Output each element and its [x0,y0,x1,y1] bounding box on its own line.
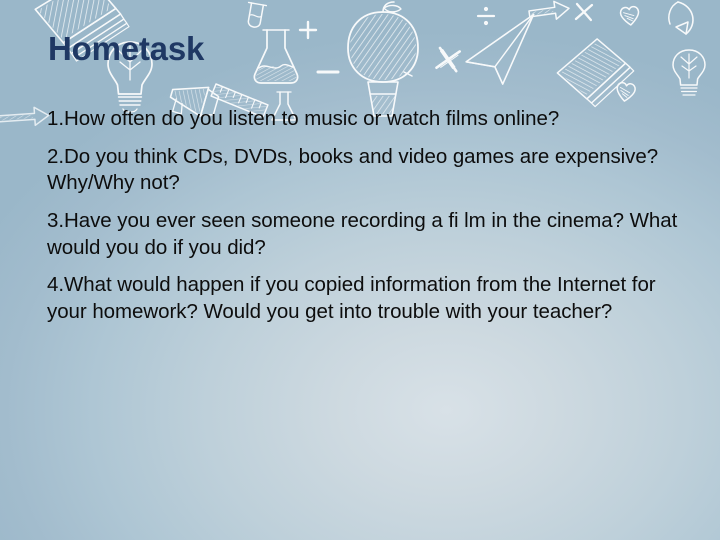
slide-content: Hometask 1.How often do you listen to mu… [0,0,720,540]
list-item: 3.Have you ever seen someone recording a… [47,208,679,261]
question-list: 1.How often do you listen to music or wa… [47,106,679,325]
list-item: 4.What would happen if you copied inform… [47,272,679,325]
page-title: Hometask [48,31,204,67]
slide-canvas: Hometask 1.How often do you listen to mu… [0,0,720,540]
list-item: 1.How often do you listen to music or wa… [47,106,679,133]
list-item: 2.Do you think CDs, DVDs, books and vide… [47,144,679,197]
